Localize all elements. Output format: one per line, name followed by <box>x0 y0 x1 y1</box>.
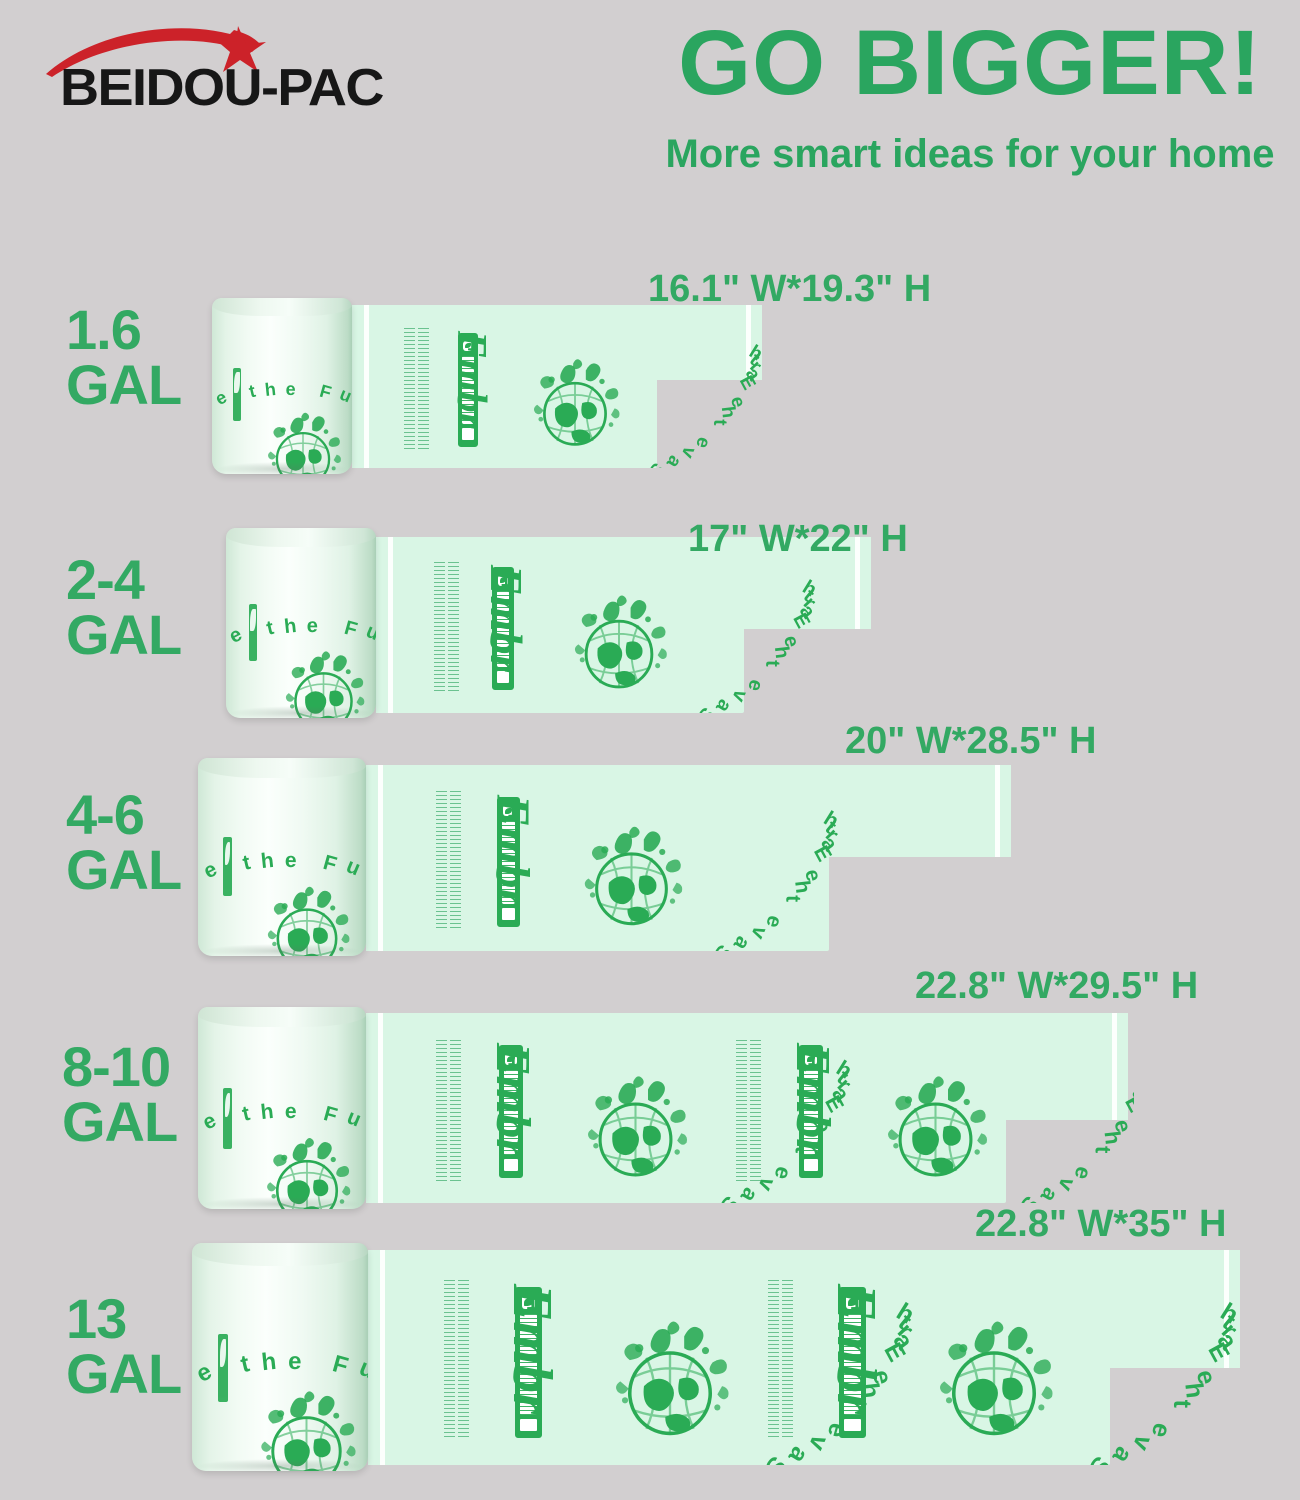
capacity-unit: GAL <box>66 843 181 898</box>
capacity-value: 2-4 <box>66 548 144 611</box>
bag-print-block: EmbrSave the Earth <box>436 765 743 951</box>
save-the-earth-text: Save the Earth <box>1009 1284 1183 1313</box>
sheet-step-notch <box>829 857 1017 951</box>
capacity-unit: GAL <box>66 1347 181 1402</box>
globe-earth-icon <box>561 572 677 713</box>
roll-top-edge <box>198 758 366 778</box>
cert-home-label <box>804 1159 818 1171</box>
fine-print-column <box>450 1040 461 1181</box>
roll-save-the-future-text: ave the Future <box>232 379 352 400</box>
bag-globe-artwork <box>561 572 677 713</box>
sheet-seam <box>380 1250 385 1465</box>
roll-cylinder: ave the Future <box>198 758 366 956</box>
dimension-label: 22.8" W*35" H <box>975 1205 1226 1243</box>
bag-roll: ave the Future <box>192 1243 368 1471</box>
page-subtitle: More smart ideas for your home <box>655 134 1285 174</box>
cert-home-label <box>520 1419 537 1431</box>
bag-globe-artwork <box>573 1051 698 1203</box>
dimension-label: 22.8" W*29.5" H <box>915 967 1198 1005</box>
bag-roll: ave the Future <box>198 1007 366 1209</box>
save-the-earth-text: Save the Earth <box>587 331 719 353</box>
bag-globe-artwork <box>570 802 693 951</box>
embrace-script-text: Embr <box>485 795 540 907</box>
bag-print-block: EmbrSave the Earth <box>404 305 673 468</box>
bag-sheet: EmbrSave the EarthEmbrSave the Earth <box>368 1250 1246 1465</box>
fine-print-column <box>450 791 461 929</box>
bag-roll: ave the Future <box>212 298 352 474</box>
bag-print-block: EmbrSave the Earth <box>436 1013 750 1203</box>
infographic-page: BEIDOU-PAC GO BIGGER! More smart ideas f… <box>0 0 1300 1500</box>
header: BEIDOU-PAC GO BIGGER! More smart ideas f… <box>0 0 1300 205</box>
embrace-script-text: Embr <box>447 331 495 429</box>
brand-logo: BEIDOU-PAC <box>38 22 438 118</box>
roll-shadow <box>205 944 360 958</box>
roll-top-edge <box>198 1007 366 1027</box>
fine-print-column <box>436 1040 447 1181</box>
embrace-script-text: Embr <box>485 1043 542 1157</box>
bag-sheet: EmbrSave the Earth <box>352 305 768 468</box>
bag-roll: ave the Future <box>198 758 366 956</box>
roll-cylinder: ave the Future <box>198 1007 366 1209</box>
capacity-value: 4-6 <box>66 783 144 846</box>
capacity-unit: GAL <box>66 358 181 413</box>
roll-cylinder: ave the Future <box>226 528 376 718</box>
capacity-unit: GAL <box>66 608 181 663</box>
sheet-seam <box>388 537 393 713</box>
sheet-seam <box>378 765 383 951</box>
roll-save-the-future-text: ave the Future <box>217 1348 368 1376</box>
fine-print-column <box>736 1040 747 1181</box>
embrace-script-text: Embr <box>824 1284 888 1415</box>
bag-print-block: EmbrSave the Earth <box>444 1250 799 1465</box>
fine-print-column <box>434 562 445 692</box>
sheet-right-seam <box>995 765 1000 857</box>
bag-sheet: EmbrSave the Earth <box>376 537 877 713</box>
cert-home-label <box>504 1159 518 1171</box>
save-the-earth-text: Save the Earth <box>631 565 770 588</box>
roll-save-the-future-text: ave the Future <box>222 1100 366 1124</box>
globe-earth-icon <box>570 802 693 951</box>
brand-logo-text: BEIDOU-PAC <box>60 62 383 114</box>
capacity-label: 8-10GAL <box>62 1040 177 1150</box>
save-the-earth-text: Save the Earth <box>644 795 790 819</box>
bag-globe-artwork <box>873 1051 998 1203</box>
fine-print-column <box>750 1040 761 1181</box>
bag-print-block: EmbrSave the Earth <box>736 1013 1050 1203</box>
sheet-right-seam <box>1112 1013 1117 1120</box>
capacity-value: 13 <box>66 1287 126 1350</box>
fine-print-column <box>404 328 415 449</box>
dimension-label: 20" W*28.5" H <box>845 722 1096 760</box>
cert-home-label <box>462 428 474 440</box>
dimension-label: 16.1" W*19.3" H <box>648 270 931 308</box>
bag-globe-artwork <box>599 1293 741 1465</box>
roll-shadow <box>199 1459 361 1473</box>
capacity-value: 8-10 <box>62 1035 170 1098</box>
fine-print-column <box>436 791 447 929</box>
roll-top-edge <box>226 528 376 547</box>
capacity-label: 13GAL <box>66 1292 181 1402</box>
roll-save-the-future-text: ave the Future <box>247 615 376 638</box>
bag-sheet: EmbrSave the EarthEmbrSave the Earth <box>366 1013 1134 1203</box>
save-the-earth-text: Save the Earth <box>949 1043 1102 1069</box>
roll-save-the-future-text: ave the Future <box>222 849 366 873</box>
globe-earth-icon <box>245 1380 368 1471</box>
cert-home-label <box>844 1419 861 1431</box>
cert-home-label <box>502 908 516 920</box>
roll-top-edge <box>192 1243 368 1266</box>
roll-shadow <box>232 706 370 720</box>
globe-earth-icon <box>573 1051 698 1203</box>
fine-print-column <box>448 562 459 692</box>
roll-cylinder: ave the Future <box>192 1243 368 1471</box>
bag-globe-artwork <box>923 1293 1065 1465</box>
capacity-label: 4-6GAL <box>66 788 181 898</box>
roll-top-edge <box>212 298 352 316</box>
cert-home-label <box>497 671 510 683</box>
fine-print-column <box>444 1280 455 1439</box>
sheet-seam <box>364 305 369 468</box>
roll-globe-artwork <box>245 1380 368 1471</box>
fine-print-column <box>768 1280 779 1439</box>
fine-print-column <box>782 1280 793 1439</box>
embrace-script-text: Embr <box>500 1284 564 1415</box>
capacity-unit: GAL <box>62 1095 177 1150</box>
bag-sheet: EmbrSave the Earth <box>366 765 1017 951</box>
capacity-value: 1.6 <box>66 298 141 361</box>
bag-roll: ave the Future <box>226 528 376 718</box>
capacity-label: 2-4GAL <box>66 553 181 663</box>
roll-cylinder: ave the Future <box>212 298 352 474</box>
fine-print-column <box>418 328 429 449</box>
page-title: GO BIGGER! <box>649 18 1292 108</box>
bag-print-block: EmbrSave the Earth <box>768 1250 1123 1465</box>
globe-earth-icon <box>521 338 629 468</box>
bag-print-block: EmbrSave the Earth <box>434 537 724 713</box>
embrace-script-text: Embr <box>480 565 533 672</box>
sheet-seam <box>378 1013 383 1203</box>
dimension-label: 17" W*22" H <box>688 520 908 558</box>
roll-shadow <box>205 1197 360 1211</box>
globe-earth-icon <box>873 1051 998 1203</box>
roll-shadow <box>218 462 347 476</box>
globe-earth-icon <box>599 1293 741 1465</box>
embrace-script-text: Embr <box>785 1043 842 1157</box>
fine-print-column <box>458 1280 469 1439</box>
globe-earth-icon <box>923 1293 1065 1465</box>
capacity-label: 1.6GAL <box>66 303 181 413</box>
bag-globe-artwork <box>521 338 629 468</box>
